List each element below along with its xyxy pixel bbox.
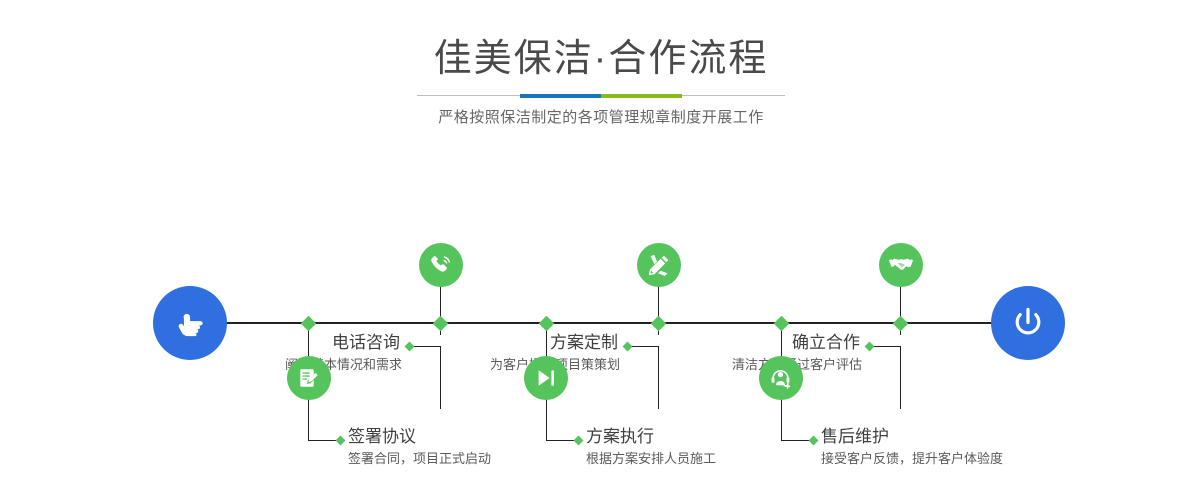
timeline-end-node (991, 286, 1065, 360)
header: 佳美保洁·合作流程 严格按照保洁制定的各项管理规章制度开展工作 (0, 0, 1202, 140)
step-label-6: 售后维护 接受客户反馈，提升客户体验度 (821, 426, 1003, 469)
connector-elbow-v-3 (658, 346, 659, 409)
document-pen-icon (296, 365, 322, 391)
step-label-2: 签署协议 签署合同，项目正式启动 (348, 426, 491, 469)
step-desc-2: 签署合同，项目正式启动 (348, 448, 491, 469)
step-desc-4: 根据方案安排人员施工 (586, 448, 716, 469)
power-icon (1007, 302, 1049, 344)
step-desc-6: 接受客户反馈，提升客户体验度 (821, 448, 1003, 469)
timeline-marker-2 (301, 316, 317, 332)
connector-tip-4 (574, 436, 584, 446)
step-icon-3 (637, 243, 681, 287)
divider-segment-green (601, 94, 682, 98)
page-title: 佳美保洁·合作流程 (0, 36, 1202, 82)
connector-elbow-v-5 (900, 346, 901, 409)
step-title-6: 售后维护 (821, 426, 1003, 448)
phone-call-icon (428, 252, 454, 278)
pencil-ruler-icon (646, 252, 672, 278)
timeline-marker-3 (651, 316, 667, 332)
connector-elbow-v-6 (781, 393, 782, 441)
timeline-marker-6 (774, 316, 790, 332)
connector-elbow-v-4 (546, 393, 547, 441)
connector-tip-2 (336, 436, 346, 446)
step-title-4: 方案执行 (586, 426, 716, 448)
process-timeline: 电话咨询 阐明基本情况和需求 签署协议 签署合同，项目正式启动 (0, 140, 1202, 502)
page-subtitle: 严格按照保洁制定的各项管理规章制度开展工作 (0, 106, 1202, 130)
connector-elbow-v-2 (308, 393, 309, 441)
divider-segment-blue (520, 94, 601, 98)
title-divider (417, 94, 785, 98)
step-icon-2 (287, 356, 331, 400)
timeline-marker-5 (893, 316, 909, 332)
cooperation-process-infographic: 佳美保洁·合作流程 严格按照保洁制定的各项管理规章制度开展工作 (0, 0, 1202, 502)
step-icon-5 (879, 243, 923, 287)
timeline-marker-1 (433, 316, 449, 332)
step-label-4: 方案执行 根据方案安排人员施工 (586, 426, 716, 469)
headset-support-icon (768, 365, 794, 391)
step-icon-4 (524, 356, 568, 400)
handshake-icon (888, 252, 914, 278)
step-icon-1 (419, 243, 463, 287)
connector-tip-6 (809, 436, 819, 446)
step-title-2: 签署协议 (348, 426, 491, 448)
connector-tip-5 (865, 342, 875, 352)
timeline-marker-4 (539, 316, 555, 332)
step-icon-6 (759, 356, 803, 400)
connector-elbow-v-1 (440, 346, 441, 409)
step-title-5: 确立合作 (510, 332, 862, 354)
play-skip-icon (533, 365, 559, 391)
